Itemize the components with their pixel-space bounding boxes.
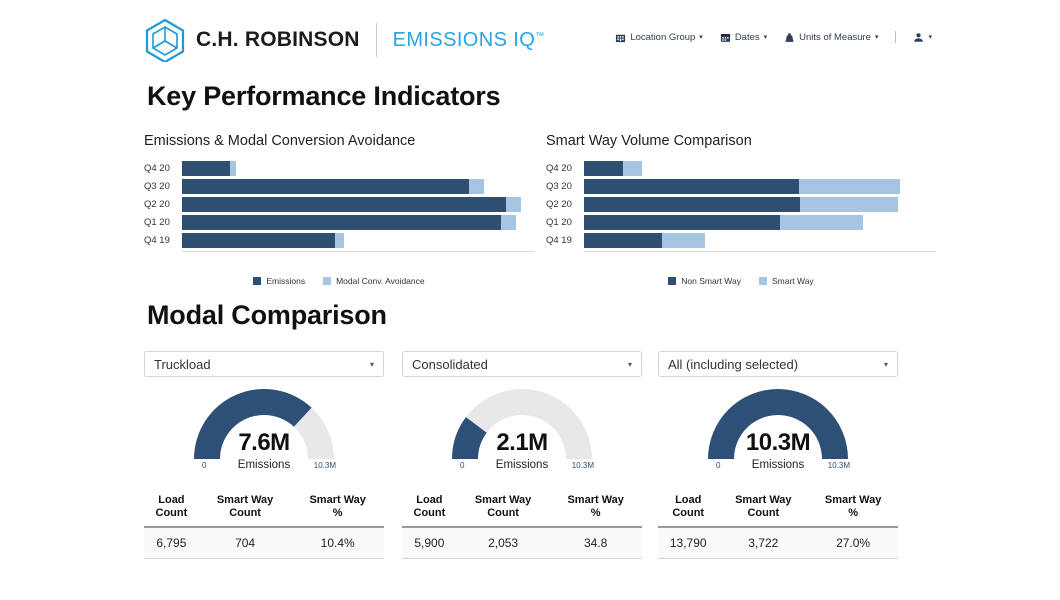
gauge-unit-label: Emissions [144, 459, 384, 471]
table-row: 5,900 2,053 34.8 [402, 527, 642, 559]
chevron-down-icon: ▾ [628, 360, 632, 369]
mode-select[interactable]: Truckload ▾ [144, 351, 384, 377]
col-load-count: Load Count [658, 490, 718, 527]
page-title-kpi: Key Performance Indicators [147, 81, 500, 112]
gauge-max-label: 10.3M [314, 461, 336, 470]
nav-units-of-measure[interactable]: Units of Measure ▾ [784, 32, 878, 43]
col-smart-way-count: Smart Way Count [457, 490, 550, 527]
bar-segment[interactable] [501, 215, 516, 230]
scope-select-value: All (including selected) [668, 357, 884, 372]
bar-row: Q3 20 [546, 179, 936, 194]
nav-user-menu[interactable]: ▾ [913, 32, 932, 43]
bar-track [182, 197, 534, 212]
cell-smart-way-count: 3,722 [718, 527, 808, 559]
gauge-max-label: 10.3M [572, 461, 594, 470]
chart-axis-line [584, 251, 936, 252]
gauge-value: 7.6M [144, 429, 384, 457]
col-load-count: Load Count [144, 490, 199, 527]
gauge-all: 10.3M Emissions 0 10.3M [658, 383, 898, 480]
service-select[interactable]: Consolidated ▾ [402, 351, 642, 377]
legend-swatch [759, 277, 767, 285]
gauge-consolidated: 2.1M Emissions 0 10.3M [402, 383, 642, 480]
nav-dates-label: Dates [735, 32, 760, 43]
bar-row: Q4 19 [144, 233, 534, 248]
gauge-max-label: 10.3M [828, 461, 850, 470]
bar-category-label: Q4 20 [546, 163, 584, 174]
bar-segment[interactable] [799, 179, 900, 194]
bar-segment[interactable] [584, 233, 662, 248]
table-header-row: Load Count Smart Way Count Smart Way % [402, 490, 642, 527]
cell-load-count: 5,900 [402, 527, 457, 559]
nav-units-of-measure-label: Units of Measure [799, 32, 871, 43]
chevron-down-icon: ▾ [699, 34, 703, 41]
col-smart-way-pct: Smart Way % [549, 490, 642, 527]
chevron-down-icon: ▾ [875, 34, 879, 41]
bar-track [182, 179, 534, 194]
cell-load-count: 13,790 [658, 527, 718, 559]
brand-lockup: C.H. ROBINSON EMISSIONS IQ™ [144, 18, 545, 62]
gauge-truckload: 7.6M Emissions 0 10.3M [144, 383, 384, 480]
chevron-down-icon: ▾ [370, 360, 374, 369]
chevron-down-icon: ▾ [928, 34, 932, 41]
cell-smart-way-count: 2,053 [457, 527, 550, 559]
bar-segment[interactable] [506, 197, 521, 212]
bar-segment[interactable] [584, 161, 623, 176]
bar-segment[interactable] [662, 233, 705, 248]
legend-item[interactable]: Modal Conv. Avoidance [323, 276, 425, 286]
chart-legend: Non Smart WaySmart Way [546, 276, 936, 286]
legend-label: Emissions [266, 276, 305, 286]
bar-row: Q3 20 [144, 179, 534, 194]
calendar-icon [720, 32, 731, 43]
chart-title: Emissions & Modal Conversion Avoidance [144, 133, 534, 149]
chart-title: Smart Way Volume Comparison [546, 133, 936, 149]
bar-row: Q2 20 [546, 197, 936, 212]
legend-label: Smart Way [772, 276, 814, 286]
building-icon [615, 32, 626, 43]
chart-emissions-modal-conversion: Emissions & Modal Conversion Avoidance Q… [144, 133, 534, 286]
gauge-min-label: 0 [460, 461, 464, 470]
metrics-table: Load Count Smart Way Count Smart Way % 1… [658, 490, 898, 559]
bar-segment[interactable] [182, 197, 506, 212]
bar-row: Q4 20 [546, 161, 936, 176]
metric-card-all: 10.3M Emissions 0 10.3M Load Count Smart… [658, 383, 898, 559]
chart-smart-way-volume: Smart Way Volume Comparison Q4 20Q3 20Q2… [546, 133, 936, 286]
legend-label: Non Smart Way [681, 276, 741, 286]
bar-category-label: Q4 20 [144, 163, 182, 174]
metric-card-truckload: 7.6M Emissions 0 10.3M Load Count Smart … [144, 383, 384, 559]
legend-swatch [253, 277, 261, 285]
chevron-down-icon: ▾ [884, 360, 888, 369]
gauge-min-label: 0 [202, 461, 206, 470]
bar-category-label: Q4 19 [144, 235, 182, 246]
scope-select[interactable]: All (including selected) ▾ [658, 351, 898, 377]
bar-segment[interactable] [623, 161, 642, 176]
bar-category-label: Q2 20 [144, 199, 182, 210]
bar-segment[interactable] [335, 233, 344, 248]
table-row: 6,795 704 10.4% [144, 527, 384, 559]
metric-card-consolidated: 2.1M Emissions 0 10.3M Load Count Smart … [402, 383, 642, 559]
mode-select-value: Truckload [154, 357, 370, 372]
bar-track [182, 233, 534, 248]
bar-segment[interactable] [182, 215, 501, 230]
bar-segment[interactable] [469, 179, 484, 194]
col-smart-way-count: Smart Way Count [718, 490, 808, 527]
service-select-value: Consolidated [412, 357, 628, 372]
bar-segment[interactable] [584, 179, 799, 194]
brand-divider [376, 23, 377, 57]
col-smart-way-count: Smart Way Count [199, 490, 292, 527]
bar-row: Q2 20 [144, 197, 534, 212]
page-title-modal-comparison: Modal Comparison [147, 300, 387, 331]
bar-row: Q4 20 [144, 161, 534, 176]
nav-location-group[interactable]: Location Group ▾ [615, 32, 702, 43]
chevron-down-icon: ▾ [764, 34, 768, 41]
legend-item[interactable]: Smart Way [759, 276, 814, 286]
weight-icon [784, 32, 795, 43]
bar-segment[interactable] [230, 161, 236, 176]
table-header-row: Load Count Smart Way Count Smart Way % [144, 490, 384, 527]
cell-load-count: 6,795 [144, 527, 199, 559]
table-row: 13,790 3,722 27.0% [658, 527, 898, 559]
col-smart-way-pct: Smart Way % [291, 490, 384, 527]
bar-segment[interactable] [780, 215, 863, 230]
cell-smart-way-count: 704 [199, 527, 292, 559]
user-icon [913, 32, 924, 43]
cell-smart-way-pct: 34.8 [549, 527, 642, 559]
top-navigation: Location Group ▾ Dates ▾ Units of Measur… [615, 31, 932, 43]
metrics-table: Load Count Smart Way Count Smart Way % 5… [402, 490, 642, 559]
bar-row: Q4 19 [546, 233, 936, 248]
col-smart-way-pct: Smart Way % [808, 490, 898, 527]
bar-category-label: Q2 20 [546, 199, 584, 210]
bar-segment[interactable] [584, 215, 780, 230]
legend-label: Modal Conv. Avoidance [336, 276, 425, 286]
legend-item[interactable]: Non Smart Way [668, 276, 741, 286]
app-header: C.H. ROBINSON EMISSIONS IQ™ Location Gro… [0, 0, 1060, 72]
nav-dates[interactable]: Dates ▾ [720, 32, 767, 43]
legend-swatch [668, 277, 676, 285]
bar-track [584, 197, 936, 212]
gauge-value: 10.3M [658, 429, 898, 457]
bar-track [584, 161, 936, 176]
bar-category-label: Q3 20 [546, 181, 584, 192]
cell-smart-way-pct: 10.4% [291, 527, 384, 559]
bar-track [584, 179, 936, 194]
bar-segment[interactable] [584, 197, 800, 212]
bar-rows: Q4 20Q3 20Q2 20Q1 20Q4 19 [546, 161, 936, 248]
bar-track [182, 161, 534, 176]
bar-category-label: Q3 20 [144, 181, 182, 192]
metrics-table: Load Count Smart Way Count Smart Way % 6… [144, 490, 384, 559]
bar-rows: Q4 20Q3 20Q2 20Q1 20Q4 19 [144, 161, 534, 248]
bar-segment[interactable] [800, 197, 898, 212]
gauge-value: 2.1M [402, 429, 642, 457]
bar-row: Q1 20 [546, 215, 936, 230]
table-header-row: Load Count Smart Way Count Smart Way % [658, 490, 898, 527]
bar-segment[interactable] [182, 161, 230, 176]
bar-track [584, 233, 936, 248]
brand-name: C.H. ROBINSON [196, 28, 360, 52]
product-name: EMISSIONS IQ™ [393, 29, 545, 52]
bar-track [182, 215, 534, 230]
product-name-text: EMISSIONS IQ [393, 29, 536, 51]
bar-track [584, 215, 936, 230]
chart-legend: EmissionsModal Conv. Avoidance [144, 276, 534, 286]
bar-category-label: Q1 20 [546, 217, 584, 228]
gauge-unit-label: Emissions [402, 459, 642, 471]
bar-segment[interactable] [182, 179, 469, 194]
gauge-min-label: 0 [716, 461, 720, 470]
bar-category-label: Q4 19 [546, 235, 584, 246]
col-load-count: Load Count [402, 490, 457, 527]
dashboard-page: C.H. ROBINSON EMISSIONS IQ™ Location Gro… [0, 0, 1060, 600]
gauge-unit-label: Emissions [658, 459, 898, 471]
bar-segment[interactable] [182, 233, 335, 248]
bar-category-label: Q1 20 [144, 217, 182, 228]
nav-location-group-label: Location Group [630, 32, 695, 43]
trademark-symbol: ™ [535, 30, 544, 40]
bar-row: Q1 20 [144, 215, 534, 230]
nav-divider [895, 31, 896, 43]
cell-smart-way-pct: 27.0% [808, 527, 898, 559]
chart-axis-line [182, 251, 534, 252]
cube-hexagon-icon [144, 18, 186, 62]
legend-item[interactable]: Emissions [253, 276, 305, 286]
legend-swatch [323, 277, 331, 285]
